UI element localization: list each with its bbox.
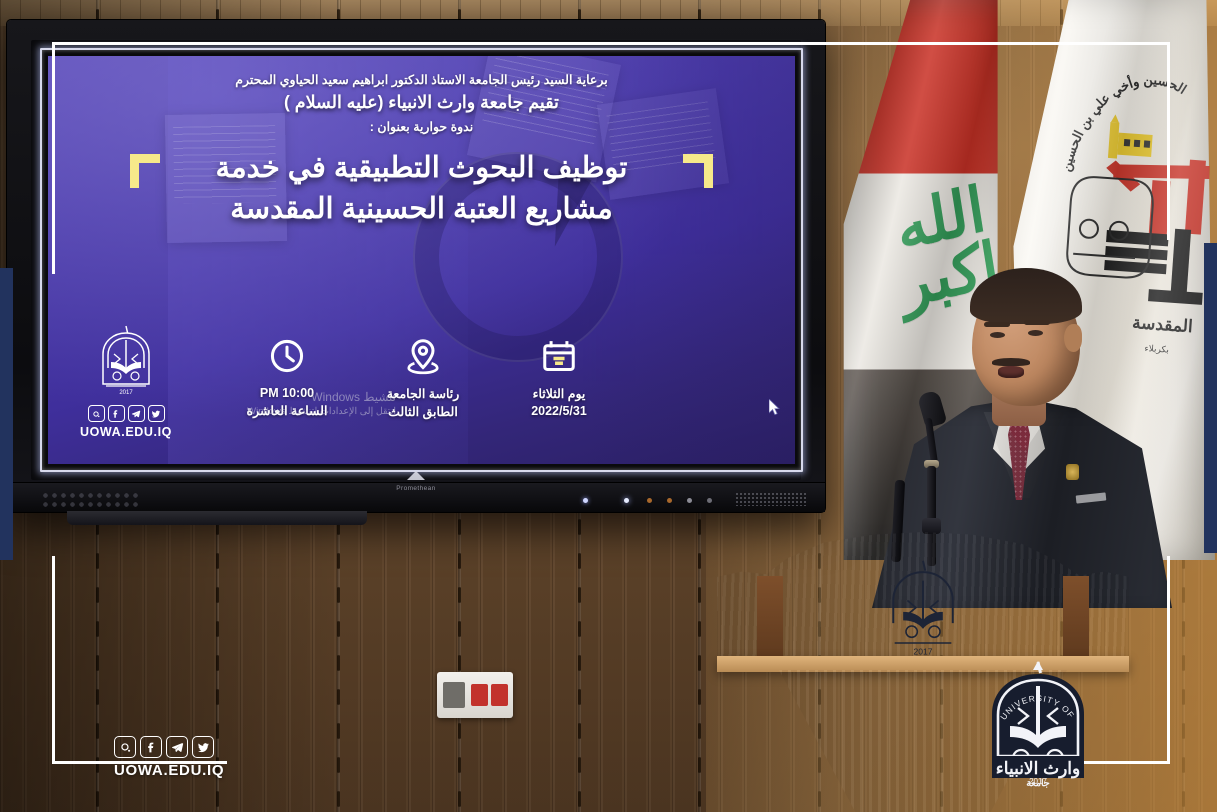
twitter-icon[interactable]	[148, 405, 165, 422]
panel-brand-label: Promethean	[396, 485, 435, 492]
overlay-frame-left-lower	[52, 556, 55, 764]
university-seal-icon: 2017	[70, 324, 182, 401]
slide-kicker: برعاية السيد رئيس الجامعة الاستاذ الدكتو…	[48, 72, 795, 87]
slide-title-line-2: مشاريع العتبة الحسينية المقدسة	[48, 189, 795, 230]
slide-host-line: تقيم جامعة وارث الانبياء (عليه السلام )	[48, 92, 795, 113]
chevron-up-icon[interactable]	[407, 471, 425, 480]
slide-website-url: UOWA.EDU.IQ	[70, 425, 182, 439]
info-date-line2: 2022/5/31	[500, 404, 618, 418]
socket-outlet	[471, 684, 488, 706]
panel-stand	[67, 511, 367, 525]
overlay-frame-right-lower	[1167, 556, 1170, 764]
overlay-frame-left-upper	[52, 42, 55, 274]
speaker-moustache	[992, 358, 1030, 366]
instagram-icon[interactable]	[88, 405, 105, 422]
svg-text:2017: 2017	[1029, 777, 1047, 786]
telegram-icon[interactable]	[166, 736, 188, 758]
photo-brand-block: UOWA.EDU.IQ	[114, 736, 274, 779]
slide-info-row: يوم الثلاثاء 2022/5/31 رئاسة الجامعة	[228, 328, 618, 419]
podium-top: 2017	[717, 532, 1129, 664]
panel-button[interactable]	[667, 498, 672, 503]
svg-text:وارث الانبياء: وارث الانبياء	[996, 759, 1080, 779]
photo-website-url: UOWA.EDU.IQ	[114, 762, 274, 779]
overlay-frame-right-upper	[1167, 42, 1170, 240]
instagram-icon[interactable]	[114, 736, 136, 758]
panel-button[interactable]	[647, 498, 652, 503]
slide-social-icons[interactable]	[70, 405, 182, 422]
panel-speaker-grille	[735, 492, 807, 506]
speaker-eye	[990, 332, 1005, 338]
slide-info-date: يوم الثلاثاء 2022/5/31	[500, 328, 618, 419]
event-photo-stage: برعاية السيد رئيس الجامعة الاستاذ الدكتو…	[0, 0, 1217, 812]
slide-subkicker: ندوة حوارية بعنوان :	[48, 119, 795, 134]
lapel-pin-icon	[1066, 464, 1079, 480]
facebook-icon[interactable]	[108, 405, 125, 422]
mouse-pointer-icon	[769, 399, 780, 416]
speaker-mouth	[998, 366, 1024, 378]
right-navy-strip	[1204, 243, 1217, 553]
socket-switch	[443, 682, 465, 708]
info-place-line2: الطابق الثالث	[364, 404, 482, 419]
presentation-slide[interactable]: برعاية السيد رئيس الجامعة الاستاذ الدكتو…	[48, 56, 795, 464]
panel-power-indicator[interactable]	[583, 498, 588, 503]
university-seal-icon: 2017	[875, 558, 971, 660]
calendar-icon	[500, 328, 618, 384]
clock-icon	[228, 328, 346, 384]
slide-info-time: 10:00 PM الساعة العاشرة	[228, 328, 346, 419]
speaker-eyebrow	[984, 322, 1010, 327]
speaker-hair	[970, 268, 1082, 324]
left-navy-strip	[0, 268, 13, 560]
panel-button[interactable]	[624, 498, 629, 503]
speaker-ear	[1064, 324, 1082, 352]
university-seal-icon: UNIVERSITY OF WARITH AL-ANBIYA وارث الان…	[978, 660, 1098, 788]
slide-brand-block: 2017	[70, 324, 182, 439]
interactive-flat-panel-display[interactable]: برعاية السيد رئيس الجامعة الاستاذ الدكتو…	[7, 20, 825, 512]
wall-power-socket	[437, 672, 513, 718]
location-pin-icon	[364, 328, 482, 384]
overlay-frame-top	[52, 42, 1170, 45]
telegram-icon[interactable]	[128, 405, 145, 422]
slide-info-place: رئاسة الجامعة الطابق الثالث	[364, 328, 482, 419]
photo-social-icons[interactable]	[114, 736, 274, 758]
info-time-line2: الساعة العاشرة	[228, 403, 346, 418]
svg-text:2017: 2017	[119, 390, 133, 396]
info-time-line1: 10:00 PM	[228, 386, 346, 400]
info-date-line1: يوم الثلاثاء	[500, 386, 618, 401]
panel-io-ports	[41, 491, 141, 507]
info-place-line1: رئاسة الجامعة	[364, 386, 482, 401]
quote-bracket-left-icon	[130, 154, 160, 188]
speaker-eye	[1028, 330, 1043, 336]
socket-outlet	[491, 684, 508, 706]
panel-button[interactable]	[687, 498, 692, 503]
svg-text:2017: 2017	[914, 646, 933, 656]
quote-bracket-right-icon	[683, 154, 713, 188]
podium-inlay	[1063, 576, 1089, 658]
podium-inlay	[757, 576, 783, 658]
panel-bottom-bezel: Promethean	[7, 482, 825, 512]
facebook-icon[interactable]	[140, 736, 162, 758]
speaker-eyebrow	[1024, 320, 1050, 325]
panel-button[interactable]	[707, 498, 712, 503]
twitter-icon[interactable]	[192, 736, 214, 758]
